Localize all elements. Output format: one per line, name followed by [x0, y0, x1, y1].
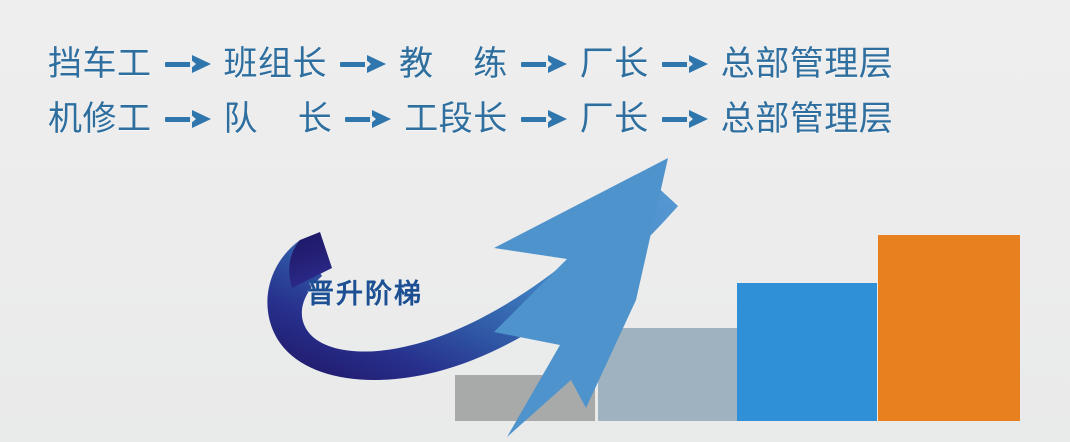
- promotion-ladder-infographic: 挡车工 班组长 教 练 厂长: [0, 0, 1070, 442]
- chart-bar-3: [737, 283, 877, 421]
- swoosh-caption: 晋升阶梯: [307, 281, 423, 308]
- chart-bar-2: [598, 328, 737, 421]
- growth-bar-chart: [0, 0, 1070, 442]
- chart-bar-1: [455, 375, 595, 421]
- chart-bar-4: [878, 235, 1020, 421]
